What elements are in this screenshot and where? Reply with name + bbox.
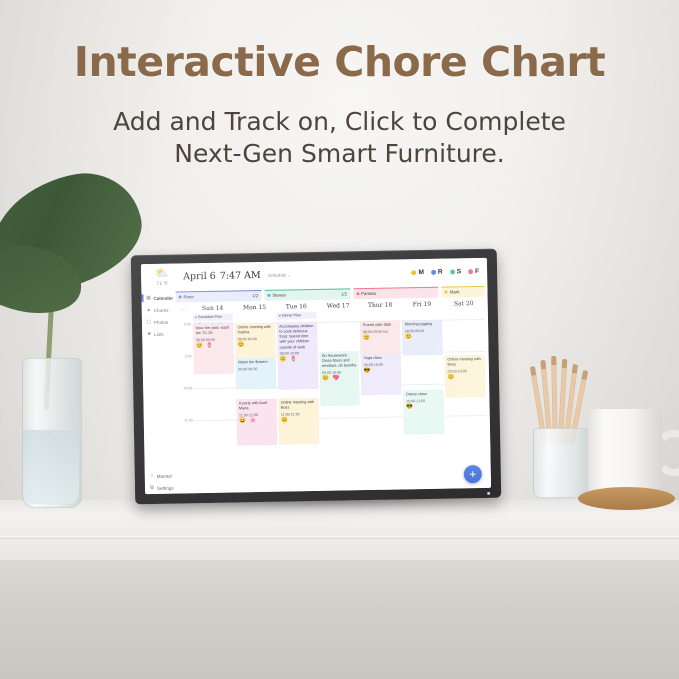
calendar-event[interactable]: A party with Aunt Maria11:00-12:00😄 🌸 bbox=[236, 399, 277, 446]
event-time: 10:00-11:00 bbox=[406, 398, 441, 403]
event-title: Morning jogging bbox=[405, 322, 440, 328]
date-time-block: April 6 7:47 AM Schedule ⌄ bbox=[183, 269, 291, 282]
day-column[interactable]: Breakfast PlanPuppy play dateMow the yar… bbox=[192, 313, 237, 493]
vase-water bbox=[23, 430, 79, 504]
day-column-header[interactable]: Sun 14 bbox=[192, 304, 234, 312]
event-time: 08:00-09:00 bbox=[196, 337, 231, 342]
day-column[interactable]: Morning jogging08:00-09:00😊Dance class10… bbox=[401, 310, 446, 490]
power-led-icon bbox=[487, 492, 490, 495]
current-date: April 6 bbox=[183, 270, 216, 282]
promo-subheadline-line-2: Next-Gen Smart Furniture. bbox=[0, 138, 679, 170]
day-column-header[interactable]: Sat 20 bbox=[443, 300, 485, 308]
day-column-header[interactable]: Fri 19 bbox=[401, 301, 443, 309]
member-dot bbox=[178, 295, 181, 298]
app-body: ▦ Calendar ▲ Chores ▢ Photos ■ Lists bbox=[141, 284, 491, 494]
member-dot bbox=[356, 292, 359, 295]
event-title: A party with Aunt Maria bbox=[239, 401, 274, 412]
smart-display-device: ⛅ 71 °F April 6 7:47 AM Schedule ⌄ M bbox=[131, 249, 502, 505]
time-axis-label: 11:00 bbox=[184, 418, 193, 422]
sidebar-spacer bbox=[142, 340, 178, 471]
member-dot bbox=[267, 294, 270, 297]
member-chip-r[interactable]: R bbox=[431, 268, 443, 275]
member-initial: R bbox=[438, 268, 443, 275]
event-title: Yoga class bbox=[364, 355, 399, 361]
all-day-event[interactable]: Dinner Plan bbox=[277, 312, 317, 319]
day-column-header[interactable]: Thur 18 bbox=[359, 301, 401, 309]
calendar-event[interactable]: Online meeting with Sophia08:00-09:00😊 bbox=[235, 323, 276, 361]
member-name: Pamela bbox=[361, 291, 376, 296]
event-title: Water the flowers bbox=[238, 360, 273, 366]
event-title: Online meeting with Boss bbox=[281, 400, 316, 411]
monitor-icon: ○ bbox=[149, 473, 155, 479]
member-name: Mark bbox=[450, 289, 460, 294]
member-chip-s[interactable]: S bbox=[450, 268, 462, 275]
time-gutter-header: — bbox=[176, 305, 192, 312]
progress-accent bbox=[264, 288, 350, 291]
view-selector-dropdown[interactable]: Schedule ⌄ bbox=[268, 272, 291, 277]
view-selector-label: Schedule bbox=[268, 272, 286, 277]
event-time: 09:00-10:00 bbox=[448, 369, 483, 374]
member-progress-steven[interactable]: Steven 1/2 bbox=[264, 288, 350, 301]
promo-subheadline: Add and Track on, Click to Complete Next… bbox=[0, 106, 679, 169]
sidebar-item-settings[interactable]: ⚙ Settings bbox=[145, 482, 179, 495]
event-title: Puzzle plan date bbox=[363, 322, 398, 328]
time-axis-label: 9:00 bbox=[185, 354, 192, 358]
promo-subheadline-line-1: Add and Track on, Click to Complete bbox=[0, 106, 679, 138]
event-reaction-emoji[interactable]: 😊 bbox=[448, 374, 483, 381]
all-day-event[interactable]: Breakfast Plan bbox=[193, 314, 233, 321]
event-title: Mow the yard, wash the TC-35 bbox=[196, 326, 231, 337]
calendar-event[interactable]: Dance class10:00-11:00😎 bbox=[404, 390, 445, 435]
event-reaction-emoji[interactable]: 😎 bbox=[364, 367, 399, 374]
sidebar-item-label: Photos bbox=[154, 319, 168, 324]
event-time: 11:00-12:00 bbox=[239, 413, 274, 418]
day-column[interactable]: Dinner PlanAccompany children to cook de… bbox=[276, 312, 321, 492]
sidebar-item-label: Calendar bbox=[153, 295, 173, 300]
day-column[interactable]: Online meeting with Boss09:00-10:00😊 bbox=[443, 309, 488, 489]
event-title: Breakfast Plan bbox=[198, 315, 221, 319]
calendar-event[interactable]: Water the flowers09:00-09:30 bbox=[235, 358, 275, 390]
sidebar-item-monitor[interactable]: ○ Monitor bbox=[145, 470, 179, 483]
member-initial: F bbox=[475, 267, 479, 274]
sidebar-item-chores[interactable]: ▲ Chores bbox=[142, 304, 176, 317]
calendar-event[interactable]: Do Housework: Clean floors and windows, … bbox=[319, 351, 360, 406]
event-time: 08:00-09:00 bbox=[405, 328, 440, 333]
calendar-content: Rose 1/2 Steven 1/2 Pamela bbox=[175, 284, 491, 494]
event-dot bbox=[195, 316, 197, 318]
sidebar-item-photos[interactable]: ▢ Photos bbox=[142, 316, 176, 329]
event-reaction-emoji[interactable]: 😊 bbox=[281, 417, 316, 424]
weather-widget[interactable]: ⛅ 71 °F bbox=[145, 268, 179, 286]
calendar-app: ⛅ 71 °F April 6 7:47 AM Schedule ⌄ M bbox=[141, 258, 491, 494]
member-name: Steven bbox=[272, 293, 286, 298]
sidebar: ▦ Calendar ▲ Chores ▢ Photos ■ Lists bbox=[141, 290, 179, 495]
desk-edge bbox=[0, 536, 679, 539]
calendar-event[interactable]: Morning jogging08:00-09:00😊 bbox=[402, 320, 442, 356]
member-chip-m[interactable]: M bbox=[411, 269, 424, 276]
member-progress-rose[interactable]: Rose 1/2 bbox=[175, 290, 261, 303]
calendar-event[interactable]: Online meeting with Boss09:00-10:00😊 bbox=[445, 355, 486, 398]
temperature-label: 71 °F bbox=[156, 280, 168, 285]
dash-icon: — bbox=[181, 306, 186, 312]
chevron-down-icon: ⌄ bbox=[287, 272, 290, 277]
day-column-header[interactable]: Wed 17 bbox=[317, 302, 359, 310]
device-screen[interactable]: ⛅ 71 °F April 6 7:47 AM Schedule ⌄ M bbox=[141, 258, 491, 494]
gear-icon: ⚙ bbox=[149, 485, 155, 491]
sun-behind-cloud-icon: ⛅ bbox=[155, 268, 169, 279]
calendar-event[interactable]: Accompany children to cook delicious foo… bbox=[277, 322, 318, 390]
event-time: 08:00-09:00 hrs bbox=[363, 329, 398, 334]
member-chip-f[interactable]: F bbox=[468, 267, 479, 274]
glass-pencil-cup bbox=[533, 428, 591, 498]
event-reaction-emoji[interactable]: 😎 bbox=[406, 403, 441, 410]
sidebar-item-label: Chores bbox=[154, 307, 169, 312]
day-columns: Breakfast PlanPuppy play dateMow the yar… bbox=[192, 309, 488, 493]
sidebar-item-label: Lists bbox=[154, 331, 164, 336]
member-avatars: M R S F bbox=[411, 267, 481, 275]
current-time: 7:47 AM bbox=[220, 269, 261, 281]
event-reaction-emoji[interactable]: 😊 🌷 bbox=[196, 342, 231, 349]
sidebar-item-calendar[interactable]: ▦ Calendar bbox=[141, 292, 175, 305]
desk-front-panel bbox=[0, 560, 679, 679]
member-progress-pamela[interactable]: Pamela bbox=[353, 287, 439, 300]
event-reaction-emoji[interactable]: 😊 bbox=[238, 342, 273, 349]
day-column-header[interactable]: Mon 15 bbox=[234, 304, 276, 312]
event-reaction-emoji[interactable]: 😄 🌸 bbox=[239, 418, 274, 425]
progress-accent bbox=[175, 290, 261, 293]
member-fraction: 1/2 bbox=[252, 293, 258, 298]
event-reaction-emoji[interactable]: 😊 🌷 bbox=[280, 356, 315, 363]
sidebar-item-label: Monitor bbox=[157, 473, 172, 478]
day-column-header[interactable]: Tue 16 bbox=[275, 303, 317, 311]
cork-coaster bbox=[578, 487, 675, 510]
calendar-event[interactable]: Mow the yard, wash the TC-3508:00-09:00😊… bbox=[193, 324, 234, 375]
sidebar-item-label: Settings bbox=[157, 485, 174, 490]
event-time: 08:00-10:00 bbox=[280, 351, 315, 356]
calendar-event[interactable]: Yoga class09:00-10:00😎 bbox=[361, 353, 402, 395]
progress-accent bbox=[353, 287, 439, 290]
event-title: Online meeting with Sophia bbox=[237, 325, 272, 336]
day-column[interactable]: Online meeting with Sophia08:00-09:00😊Wa… bbox=[234, 313, 279, 493]
event-dot bbox=[279, 315, 281, 317]
event-time: 08:00-09:00 bbox=[238, 337, 273, 342]
event-title: Accompany children to cook delicious foo… bbox=[279, 324, 314, 350]
event-time: 09:00-09:30 bbox=[238, 366, 273, 371]
member-name: Rose bbox=[183, 294, 193, 299]
photo-icon: ▢ bbox=[146, 319, 152, 325]
calendar-event[interactable]: Puzzle plan date08:00-09:00 hrs😊 bbox=[360, 320, 400, 356]
event-time: 09:00-10:00 bbox=[322, 370, 357, 375]
event-reaction-emoji[interactable]: 😊 bbox=[405, 333, 440, 340]
list-icon: ■ bbox=[146, 331, 152, 337]
time-axis-label: 8:00 bbox=[184, 322, 191, 326]
member-fraction: 1/2 bbox=[341, 291, 347, 296]
calendar-icon: ▦ bbox=[145, 295, 151, 301]
promo-headline: Interactive Chore Chart bbox=[0, 38, 679, 86]
avatar bbox=[450, 269, 455, 274]
event-reaction-emoji[interactable]: 😊 bbox=[363, 334, 398, 341]
avatar bbox=[431, 269, 436, 274]
day-column[interactable]: Puzzle plan date08:00-09:00 hrs😊Yoga cla… bbox=[359, 310, 404, 490]
member-dot bbox=[445, 291, 448, 294]
event-title: Dinner Plan bbox=[282, 314, 301, 318]
day-column[interactable]: Do Housework: Clean floors and windows, … bbox=[317, 311, 362, 491]
calendar-grid: 8:009:0010:0011:00 Breakfast PlanPuppy p… bbox=[176, 309, 488, 494]
avatar bbox=[468, 269, 473, 274]
event-title: Dance class bbox=[406, 392, 441, 398]
member-initial: S bbox=[457, 268, 462, 275]
coffee-mug bbox=[588, 409, 662, 498]
event-reaction-emoji[interactable]: 😊 💖 bbox=[322, 375, 357, 382]
member-progress-mark[interactable]: Mark bbox=[442, 286, 485, 298]
event-time: 09:00-10:00 bbox=[364, 362, 399, 367]
member-initial: M bbox=[418, 269, 424, 276]
progress-accent bbox=[442, 286, 485, 288]
event-title: Online meeting with Boss bbox=[447, 357, 482, 368]
sidebar-item-lists[interactable]: ■ Lists bbox=[142, 328, 176, 341]
avatar bbox=[411, 270, 416, 275]
event-time: 11:00-11:30 bbox=[281, 412, 316, 417]
calendar-event[interactable]: Online meeting with Boss11:00-11:30😊 bbox=[278, 398, 319, 445]
broom-icon: ▲ bbox=[146, 307, 152, 313]
event-title: Do Housework: Clean floors and windows, … bbox=[322, 353, 357, 369]
time-axis-label: 10:00 bbox=[183, 386, 192, 390]
